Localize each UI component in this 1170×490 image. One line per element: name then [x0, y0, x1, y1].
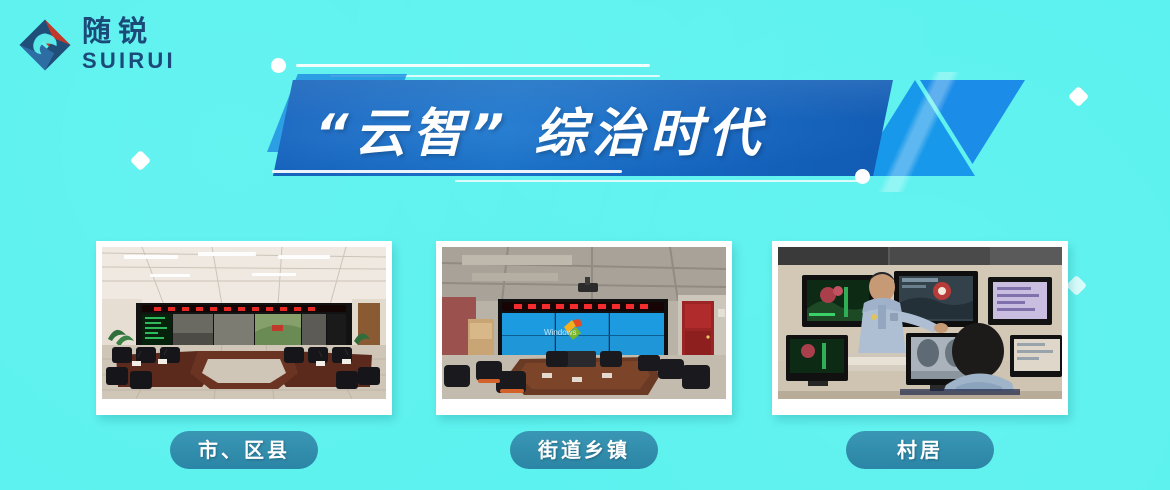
- decor-dot-top-left: [271, 58, 286, 73]
- card-street-township[interactable]: Windows: [436, 241, 732, 415]
- card-frame: Windows: [436, 241, 732, 415]
- card-label-village[interactable]: 村居: [846, 431, 994, 469]
- brand-name-cn: 随锐: [82, 14, 212, 48]
- brand-logo[interactable]: 随锐 SUIRUI: [16, 14, 216, 76]
- slide-root: 随锐 SUIRUI “云智” 综治时代: [0, 0, 1170, 490]
- card-frame: [772, 241, 1068, 415]
- decor-dot-bottom-right: [855, 169, 870, 184]
- brand-name-en: SUIRUI: [82, 48, 212, 73]
- decor-line-top-1: [296, 64, 650, 67]
- brand-logo-text: 随锐 SUIRUI: [82, 14, 212, 73]
- card-photo-village: [778, 247, 1062, 399]
- title-banner: “云智” 综治时代: [255, 52, 955, 197]
- decor-line-bottom-1: [272, 170, 622, 173]
- card-frame: [96, 241, 392, 415]
- card-label-city-district[interactable]: 市、区县: [170, 431, 318, 469]
- suirui-pinwheel-logo-icon: [16, 16, 74, 74]
- card-label-street-township[interactable]: 街道乡镇: [510, 431, 658, 469]
- decor-diamond-bottom-right: [1066, 275, 1087, 296]
- decor-diamond-top-right: [1068, 86, 1089, 107]
- decor-line-bottom-2: [455, 180, 863, 182]
- card-photo-street-township: Windows: [442, 247, 726, 399]
- card-photo-city-district: [102, 247, 386, 399]
- card-village[interactable]: 村居: [772, 241, 1068, 415]
- decor-diamond-left: [130, 150, 151, 171]
- card-city-district[interactable]: 市、区县: [96, 241, 392, 415]
- banner-title-text: “云智” 综治时代: [315, 82, 875, 174]
- svg-text:Windows: Windows: [544, 328, 576, 337]
